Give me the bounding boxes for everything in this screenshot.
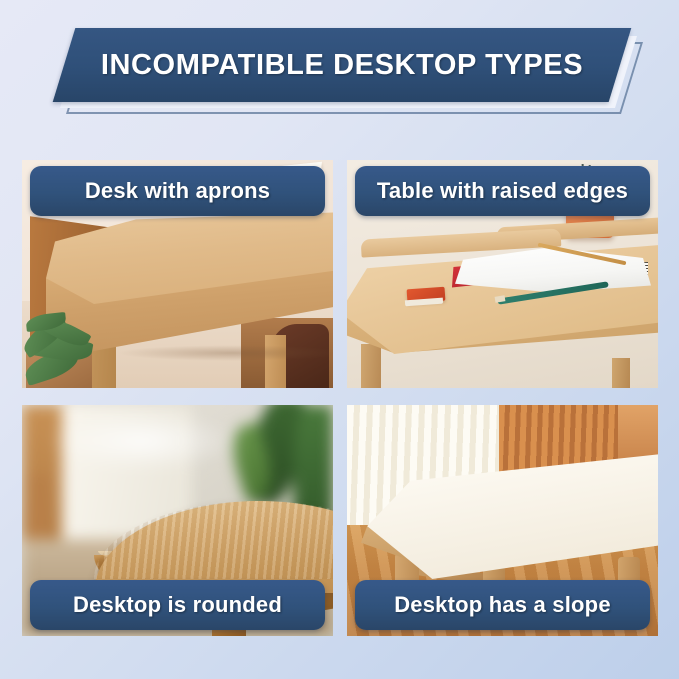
table-leg-right bbox=[612, 358, 630, 388]
card-label-table-with-raised-edges: Table with raised edges bbox=[355, 166, 650, 216]
window-light-glow bbox=[48, 411, 238, 471]
card-desktop-has-a-slope: Desktop has a slope bbox=[347, 405, 658, 636]
card-label-desktop-has-a-slope: Desktop has a slope bbox=[355, 580, 650, 630]
table-leg-left bbox=[361, 344, 381, 388]
card-grid: Desk with aprons bbox=[22, 160, 658, 636]
desk-leg-right bbox=[265, 335, 286, 388]
card-desk-with-aprons: Desk with aprons bbox=[22, 160, 333, 388]
card-desktop-is-rounded: Desktop is rounded bbox=[22, 405, 333, 636]
card-label-desktop-is-rounded: Desktop is rounded bbox=[30, 580, 325, 630]
page-title: INCOMPATIBLE DESKTOP TYPES bbox=[64, 28, 620, 102]
header-banner: INCOMPATIBLE DESKTOP TYPES bbox=[0, 28, 679, 128]
card-table-with-raised-edges: Table with raised edges bbox=[347, 160, 658, 388]
desk-shadow bbox=[117, 345, 333, 361]
card-label-desk-with-aprons: Desk with aprons bbox=[30, 166, 325, 216]
infographic-page: INCOMPATIBLE DESKTOP TYPES bbox=[0, 0, 679, 679]
